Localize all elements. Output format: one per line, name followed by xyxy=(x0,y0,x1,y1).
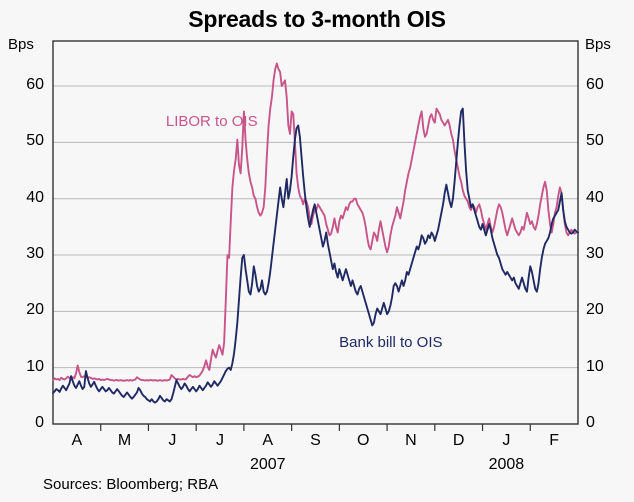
series-annotation: Bank bill to OIS xyxy=(339,334,442,351)
series-line-libor-to-ois xyxy=(53,64,578,381)
x-tick-label: O xyxy=(348,432,378,450)
series-lines xyxy=(53,64,578,403)
y-tick-label-right: 0 xyxy=(586,414,626,432)
x-tick-label: N xyxy=(396,432,426,450)
sources-note: Sources: Bloomberg; RBA xyxy=(43,476,218,493)
axes-frame xyxy=(53,41,578,424)
x-tick-label: M xyxy=(110,432,140,450)
y-tick-label-left: 50 xyxy=(4,132,44,150)
series-line-bank-bill-to-ois xyxy=(53,109,578,403)
y-tick-label-left: 20 xyxy=(4,301,44,319)
year-label: 2007 xyxy=(238,456,298,474)
plot-area xyxy=(0,0,634,502)
x-tick-label: J xyxy=(205,432,235,450)
series-annotation: LIBOR to OIS xyxy=(166,113,258,130)
x-tick-label: J xyxy=(157,432,187,450)
gridlines xyxy=(53,86,578,368)
x-tick-label: A xyxy=(62,432,92,450)
y-tick-label-left: 40 xyxy=(4,189,44,207)
x-tick-label: F xyxy=(539,432,569,450)
y-tick-label-right: 40 xyxy=(586,189,626,207)
y-tick-label-right: 50 xyxy=(586,132,626,150)
y-tick-label-left: 10 xyxy=(4,358,44,376)
y-tick-label-right: 20 xyxy=(586,301,626,319)
x-tick-label: S xyxy=(301,432,331,450)
y-tick-label-left: 30 xyxy=(4,245,44,263)
x-tick-label: D xyxy=(444,432,474,450)
x-tick-label: A xyxy=(253,432,283,450)
y-tick-label-left: 60 xyxy=(4,76,44,94)
x-tick-label: J xyxy=(491,432,521,450)
plot-frame xyxy=(53,41,578,424)
y-tick-label-left: 0 xyxy=(4,414,44,432)
y-tick-label-right: 10 xyxy=(586,358,626,376)
y-tick-label-right: 30 xyxy=(586,245,626,263)
x-axis-ticks xyxy=(101,424,531,431)
year-label: 2008 xyxy=(476,456,536,474)
y-tick-label-right: 60 xyxy=(586,76,626,94)
chart-container: Spreads to 3-month OIS Bps Bps 010203040… xyxy=(0,0,634,502)
